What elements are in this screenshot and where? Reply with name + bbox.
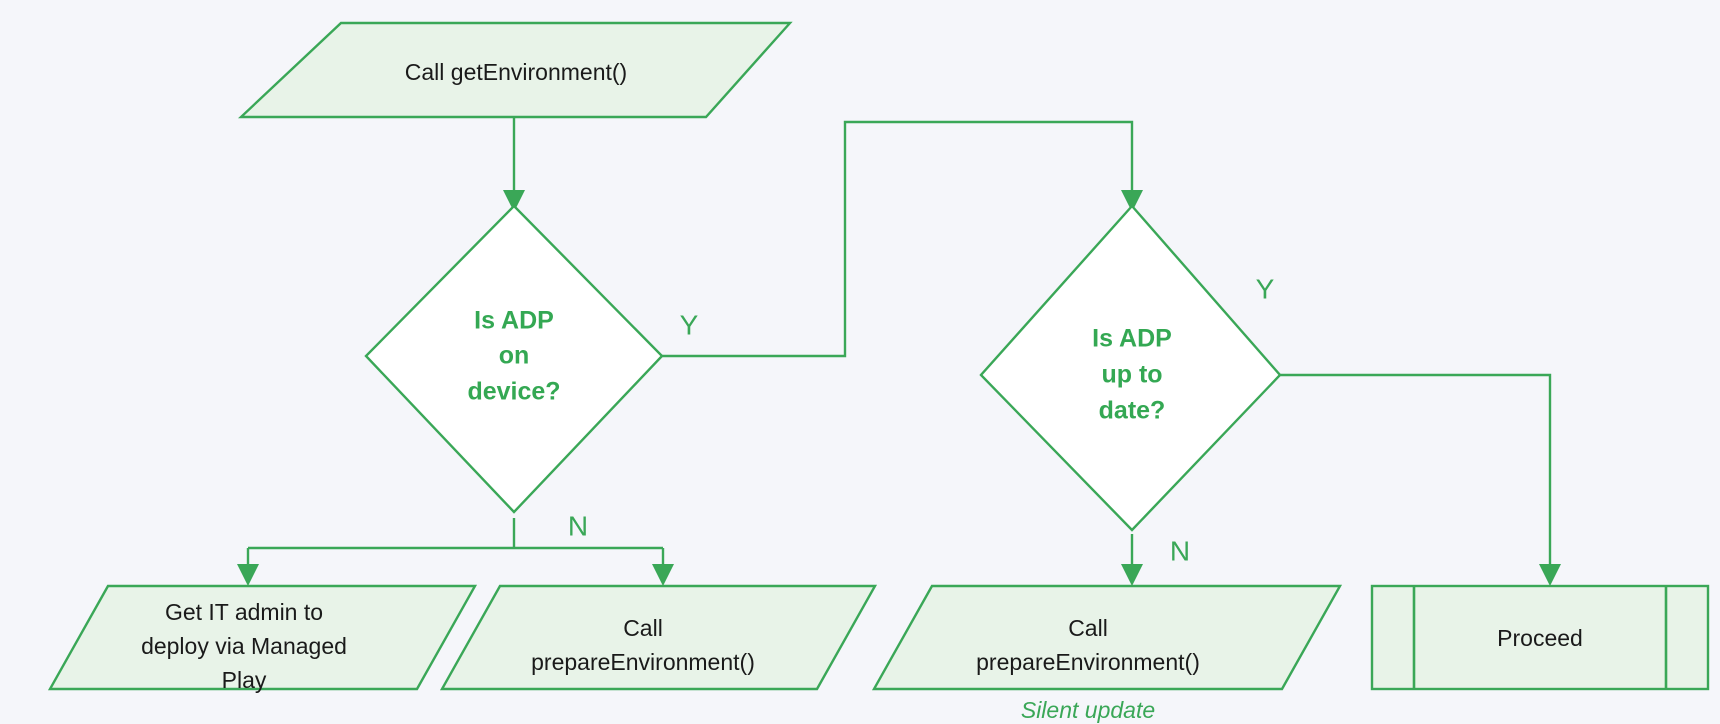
node-decision-adp-on-device-line-0: Is ADP: [474, 307, 554, 335]
edge-decision2-no-to-prepare: [1121, 534, 1143, 586]
edge-decision2-yes-to-proceed: [1280, 375, 1561, 586]
node-decision-adp-up-to-date-line-1: up to: [1101, 361, 1162, 389]
node-get-it-admin-deploy-line-1: deploy via Managed: [141, 633, 347, 659]
node-call-prepare-environment-left-line-0: Call: [623, 615, 663, 641]
node-decision-adp-up-to-date[interactable]: Is ADP up to date?: [981, 206, 1280, 530]
node-call-prepare-environment-left[interactable]: Call prepareEnvironment(): [442, 586, 875, 689]
node-decision-adp-up-to-date-line-0: Is ADP: [1092, 325, 1172, 353]
node-call-prepare-environment-left-line-1: prepareEnvironment(): [531, 649, 755, 675]
caption-silent-update: Silent update: [1021, 697, 1155, 723]
node-call-prepare-environment-right-line-0: Call: [1068, 615, 1108, 641]
node-decision-adp-on-device-line-2: device?: [467, 378, 560, 406]
flowchart-canvas: Call getEnvironment() Is ADP on device? …: [0, 0, 1720, 724]
node-call-get-environment[interactable]: Call getEnvironment(): [241, 23, 790, 117]
node-get-it-admin-deploy[interactable]: Get IT admin to deploy via Managed Play: [50, 586, 475, 693]
branch-label-adp-up-to-date-no: N: [1170, 535, 1190, 566]
node-proceed[interactable]: Proceed: [1372, 586, 1708, 689]
edge-decision1-no-branch: [237, 518, 674, 586]
branch-label-adp-up-to-date-yes: Y: [1256, 273, 1275, 304]
node-decision-adp-on-device[interactable]: Is ADP on device?: [366, 206, 662, 512]
node-decision-adp-on-device-line-1: on: [499, 342, 530, 370]
branch-label-adp-on-device-yes: Y: [680, 309, 699, 340]
node-proceed-label: Proceed: [1497, 625, 1583, 651]
node-call-prepare-environment-right-line-1: prepareEnvironment(): [976, 649, 1200, 675]
edge-start-to-decision1: [503, 118, 525, 212]
node-call-get-environment-line-0: Call getEnvironment(): [405, 59, 627, 85]
flowchart-svg: Call getEnvironment() Is ADP on device? …: [0, 0, 1720, 724]
node-call-prepare-environment-right[interactable]: Call prepareEnvironment(): [874, 586, 1340, 689]
branch-label-adp-on-device-no: N: [568, 510, 588, 541]
node-decision-adp-up-to-date-line-2: date?: [1099, 397, 1166, 425]
node-get-it-admin-deploy-line-0: Get IT admin to: [165, 599, 323, 625]
node-get-it-admin-deploy-line-2: Play: [222, 667, 267, 693]
